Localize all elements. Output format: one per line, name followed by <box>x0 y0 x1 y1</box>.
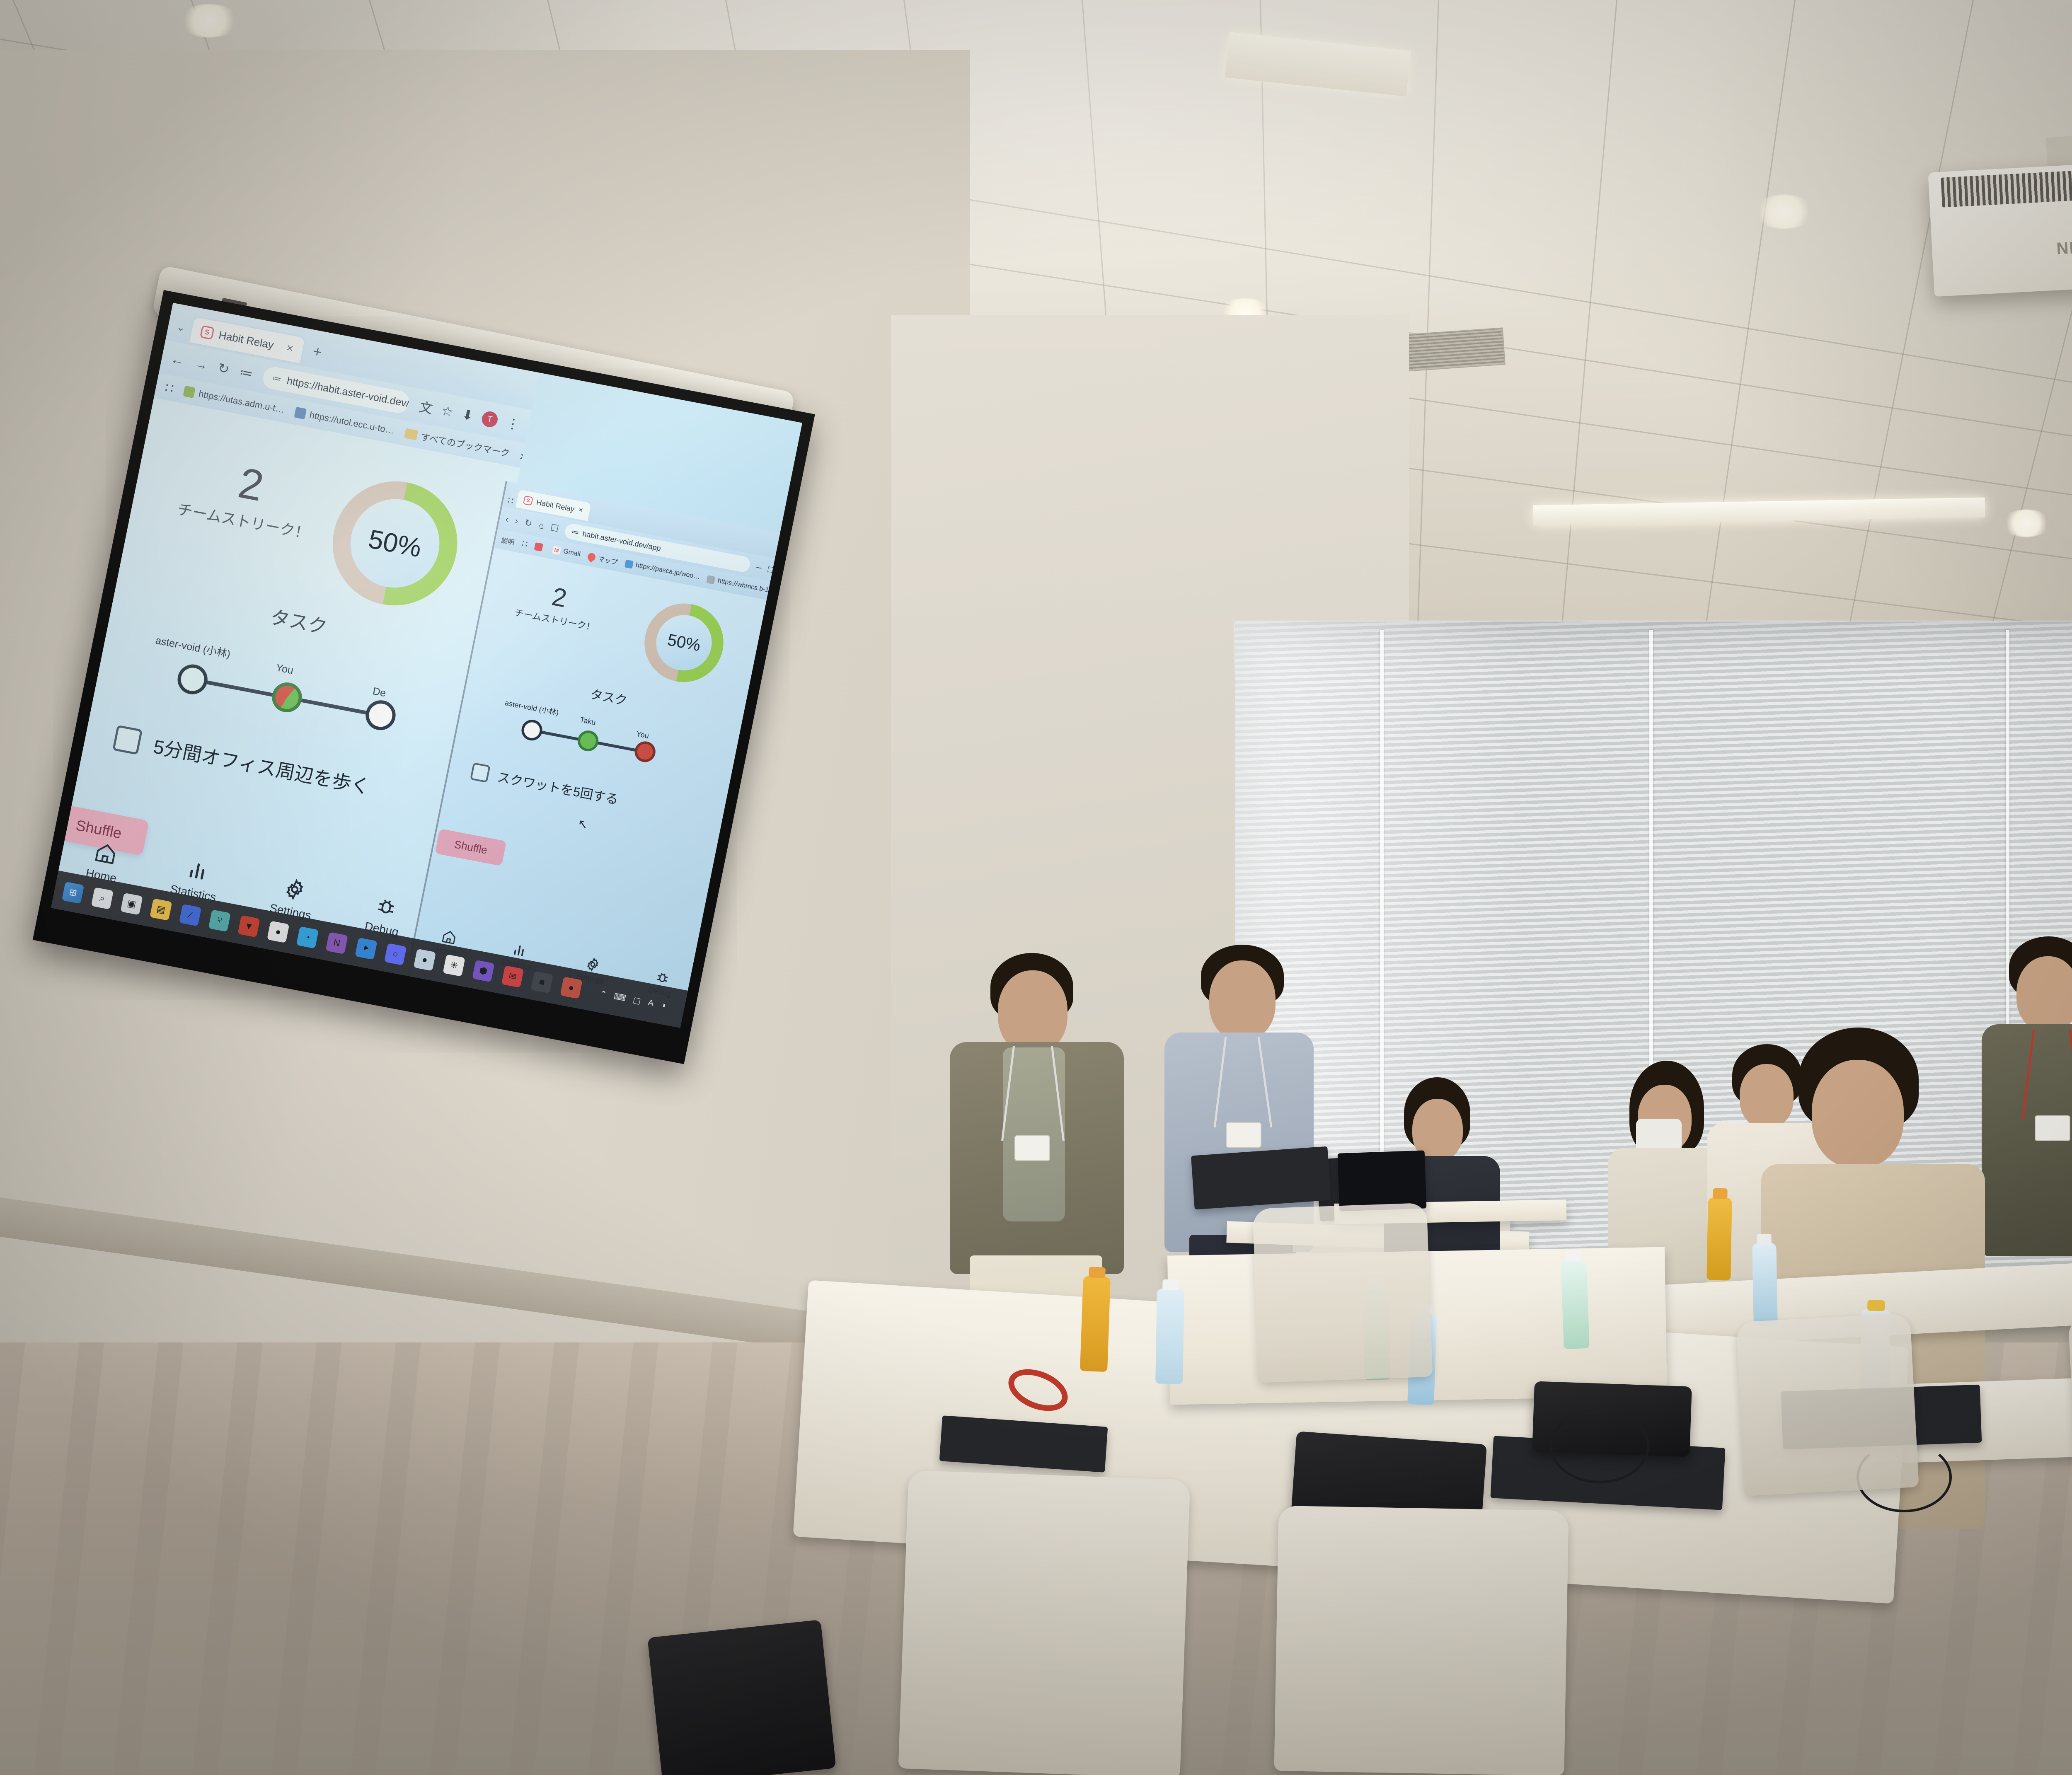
todo-label: 5分間オフィス周辺を歩く <box>151 732 373 800</box>
progress-value: 50% <box>366 523 424 563</box>
projector-vents <box>1941 167 2072 208</box>
task-view-icon[interactable]: ▣ <box>120 893 143 915</box>
forward-icon[interactable]: › <box>514 515 519 527</box>
relay-node[interactable] <box>175 662 210 697</box>
bookmark-label: マップ <box>597 553 619 567</box>
tray-icon[interactable]: ⌃ <box>599 988 608 1000</box>
sidebar-label[interactable]: 説明 <box>501 535 516 547</box>
app-icon[interactable]: ● <box>560 977 582 999</box>
site-info-icon: ≔ <box>571 527 580 537</box>
chrome-icon[interactable]: ● <box>267 921 289 943</box>
bookmark-item-youtube[interactable] <box>534 542 546 551</box>
shuffle-button[interactable]: Shuffle <box>435 829 507 866</box>
mail-icon[interactable]: ✉ <box>501 965 524 988</box>
profile-avatar[interactable]: T <box>480 410 499 428</box>
bar-chart-icon <box>510 942 528 959</box>
link-icon <box>706 575 715 584</box>
back-icon[interactable]: ‹ <box>505 514 510 525</box>
team-streak: 2 チームストリーク！ <box>176 451 321 544</box>
maximize-icon[interactable]: □ <box>767 563 775 575</box>
todo-row[interactable]: スクワットを5回する <box>470 762 620 808</box>
bookmark-item-maps[interactable]: マップ <box>587 551 619 566</box>
search-icon[interactable]: ⌕ <box>91 887 114 909</box>
habit-relay-favicon: S <box>523 496 533 506</box>
gmail-icon: M <box>552 546 561 555</box>
name-badge <box>2035 1115 2070 1141</box>
bar-chart-icon <box>184 858 211 884</box>
git-icon[interactable]: ⑂ <box>208 909 231 932</box>
head <box>1209 960 1276 1040</box>
head <box>2016 956 2072 1032</box>
bookmark-label: Gmail <box>563 548 581 558</box>
terminal-icon[interactable]: ■ <box>531 971 553 994</box>
bookmark-item-gmail[interactable]: M Gmail <box>552 546 581 559</box>
tab-title: Habit Relay <box>218 329 275 352</box>
tab-title: Habit Relay <box>536 498 576 513</box>
chair <box>1736 1313 1919 1496</box>
apps-grid-icon[interactable]: ∷ <box>164 380 175 397</box>
vscode-icon[interactable]: ⯈ <box>355 938 377 960</box>
bug-icon <box>373 894 399 920</box>
relay-node-you[interactable] <box>269 680 305 715</box>
habit-relay-favicon: S <box>200 325 214 340</box>
name-badge <box>1014 1135 1050 1161</box>
handheld-laptop <box>1191 1146 1331 1210</box>
tray-icon[interactable]: A <box>647 998 655 1008</box>
edge-icon[interactable]: ◔ <box>296 926 319 949</box>
folder-icon <box>404 428 418 440</box>
link-icon <box>625 559 634 568</box>
bottle-cap <box>1757 1234 1771 1245</box>
youtube-icon <box>534 542 543 551</box>
head <box>1812 1060 1904 1168</box>
discord-icon[interactable]: ○ <box>384 943 407 965</box>
chevron-down-icon[interactable]: ⌄ <box>175 320 187 334</box>
minimize-icon[interactable]: – <box>755 561 762 573</box>
relay-chain: aster-void (小林) You De <box>161 638 401 742</box>
forward-icon[interactable]: → <box>193 355 209 373</box>
clock-date <box>672 1007 675 1016</box>
collections-chevron-icon[interactable]: » <box>519 447 525 464</box>
reload-icon[interactable]: ↻ <box>523 517 533 529</box>
coiled-cable <box>1550 1409 1649 1483</box>
ceiling-downlight <box>1753 195 1815 229</box>
tray-icon[interactable]: ⌨ <box>613 991 627 1003</box>
todo-checkbox[interactable] <box>112 725 143 755</box>
todo-checkbox[interactable] <box>470 762 491 783</box>
file-explorer-icon[interactable]: ▤ <box>150 898 172 921</box>
more-menu-icon[interactable]: ⋮ <box>505 415 521 433</box>
projector-brand-label: NEC <box>2056 238 2072 259</box>
ceiling-downlight <box>178 4 240 37</box>
download-icon[interactable]: ⬇ <box>460 406 474 424</box>
ceiling-projector: NEC <box>1928 159 2072 297</box>
gear-icon <box>282 876 308 902</box>
relay-node-label: Taku <box>579 716 597 727</box>
relay-node[interactable] <box>363 698 398 733</box>
progress-value: 50% <box>666 631 702 655</box>
home-icon <box>92 840 119 866</box>
conference-room-scene: NEC ⌄ S Habit Relay × + <box>0 0 2072 1775</box>
home-icon[interactable]: ⌂ <box>537 520 545 532</box>
projection-screen: ⌄ S Habit Relay × + ← → ↻ ≔ <box>33 290 815 1064</box>
relay-node-you[interactable] <box>633 740 657 764</box>
apps-grid-icon[interactable]: ∷ <box>521 538 529 550</box>
projection-surface: ⌄ S Habit Relay × + ← → ↻ ≔ <box>51 303 802 1028</box>
relay-node[interactable] <box>520 718 544 742</box>
system-tray[interactable]: ⌃⌨▢A◑ <box>598 985 677 1016</box>
bottle-cap <box>1089 1267 1105 1278</box>
green-dot-icon <box>183 386 196 398</box>
head <box>998 970 1067 1053</box>
team-streak: 2 チームストリーク！ <box>513 578 602 634</box>
relay-node-label: You <box>636 730 650 740</box>
tray-icon[interactable]: ▢ <box>632 994 642 1006</box>
drink-bottle <box>1561 1259 1589 1349</box>
attendee-laptop-screen <box>1338 1150 1427 1211</box>
slack-icon[interactable]: ✳ <box>443 954 465 977</box>
split-screen-icon[interactable]: ≔ <box>238 364 254 382</box>
relay-node-label: aster-void (小林) <box>154 632 232 661</box>
start-button[interactable]: ⊞ <box>62 882 84 904</box>
mouse-cursor-icon: ↖ <box>576 816 590 832</box>
relay-node-label: De <box>372 685 387 699</box>
relay-node-taku[interactable] <box>576 729 600 753</box>
chair <box>1253 1203 1433 1383</box>
chair <box>898 1470 1191 1775</box>
bug-icon <box>654 969 671 987</box>
ceiling-downlight <box>2002 510 2051 537</box>
chrome-menu-icon[interactable]: ∷ <box>506 495 514 507</box>
progress-donut: 50% <box>637 597 730 689</box>
translate-icon[interactable]: 文 <box>418 397 435 418</box>
drink-bottle <box>1155 1288 1184 1384</box>
projected-desktop: ⌄ S Habit Relay × + ← → ↻ ≔ <box>51 303 802 1028</box>
chrome-canary-icon[interactable]: ● <box>414 949 436 971</box>
bookmark-icon[interactable]: ☐ <box>549 522 560 534</box>
relay-node-label: aster-void (小林) <box>504 697 560 718</box>
taskbar-clock[interactable] <box>672 999 677 1016</box>
bottle-cap <box>1162 1279 1179 1291</box>
todo-row[interactable]: 5分間オフィス周辺を歩く <box>112 724 373 800</box>
arc-browser-icon[interactable]: ∕ <box>179 904 201 926</box>
maps-pin-icon <box>586 551 597 562</box>
close-icon[interactable]: × <box>578 505 584 515</box>
clock-time <box>673 999 677 1008</box>
reload-icon[interactable]: ↻ <box>217 360 231 377</box>
onenote-icon[interactable]: N <box>326 932 348 954</box>
favorite-icon[interactable]: ☆ <box>440 402 455 420</box>
progress-donut: 50% <box>322 471 468 616</box>
obsidian-icon[interactable]: ⬢ <box>472 960 494 982</box>
home-icon <box>440 929 457 946</box>
doc-icon <box>294 407 307 419</box>
relay-node-label: You <box>275 662 294 677</box>
gear-icon <box>584 956 601 973</box>
backpack <box>647 1620 836 1775</box>
close-icon[interactable]: × <box>285 341 294 355</box>
bottle-cap <box>1566 1250 1581 1261</box>
drink-bottle <box>1080 1276 1111 1372</box>
chair <box>1274 1506 1569 1775</box>
drink-bottle <box>1706 1197 1732 1281</box>
back-icon[interactable]: ← <box>169 351 186 368</box>
bottle-cap <box>1713 1188 1727 1199</box>
drink-bottle <box>1752 1243 1777 1326</box>
todo-label: スクワットを5回する <box>496 767 620 808</box>
new-tab-button[interactable]: + <box>311 343 323 361</box>
tray-icon[interactable]: ◑ <box>660 1000 667 1011</box>
site-info-icon: ≔ <box>271 372 283 385</box>
proton-vpn-icon[interactable]: ▼ <box>237 915 260 938</box>
bottle-cap <box>1867 1300 1885 1311</box>
name-badge <box>1226 1122 1261 1148</box>
